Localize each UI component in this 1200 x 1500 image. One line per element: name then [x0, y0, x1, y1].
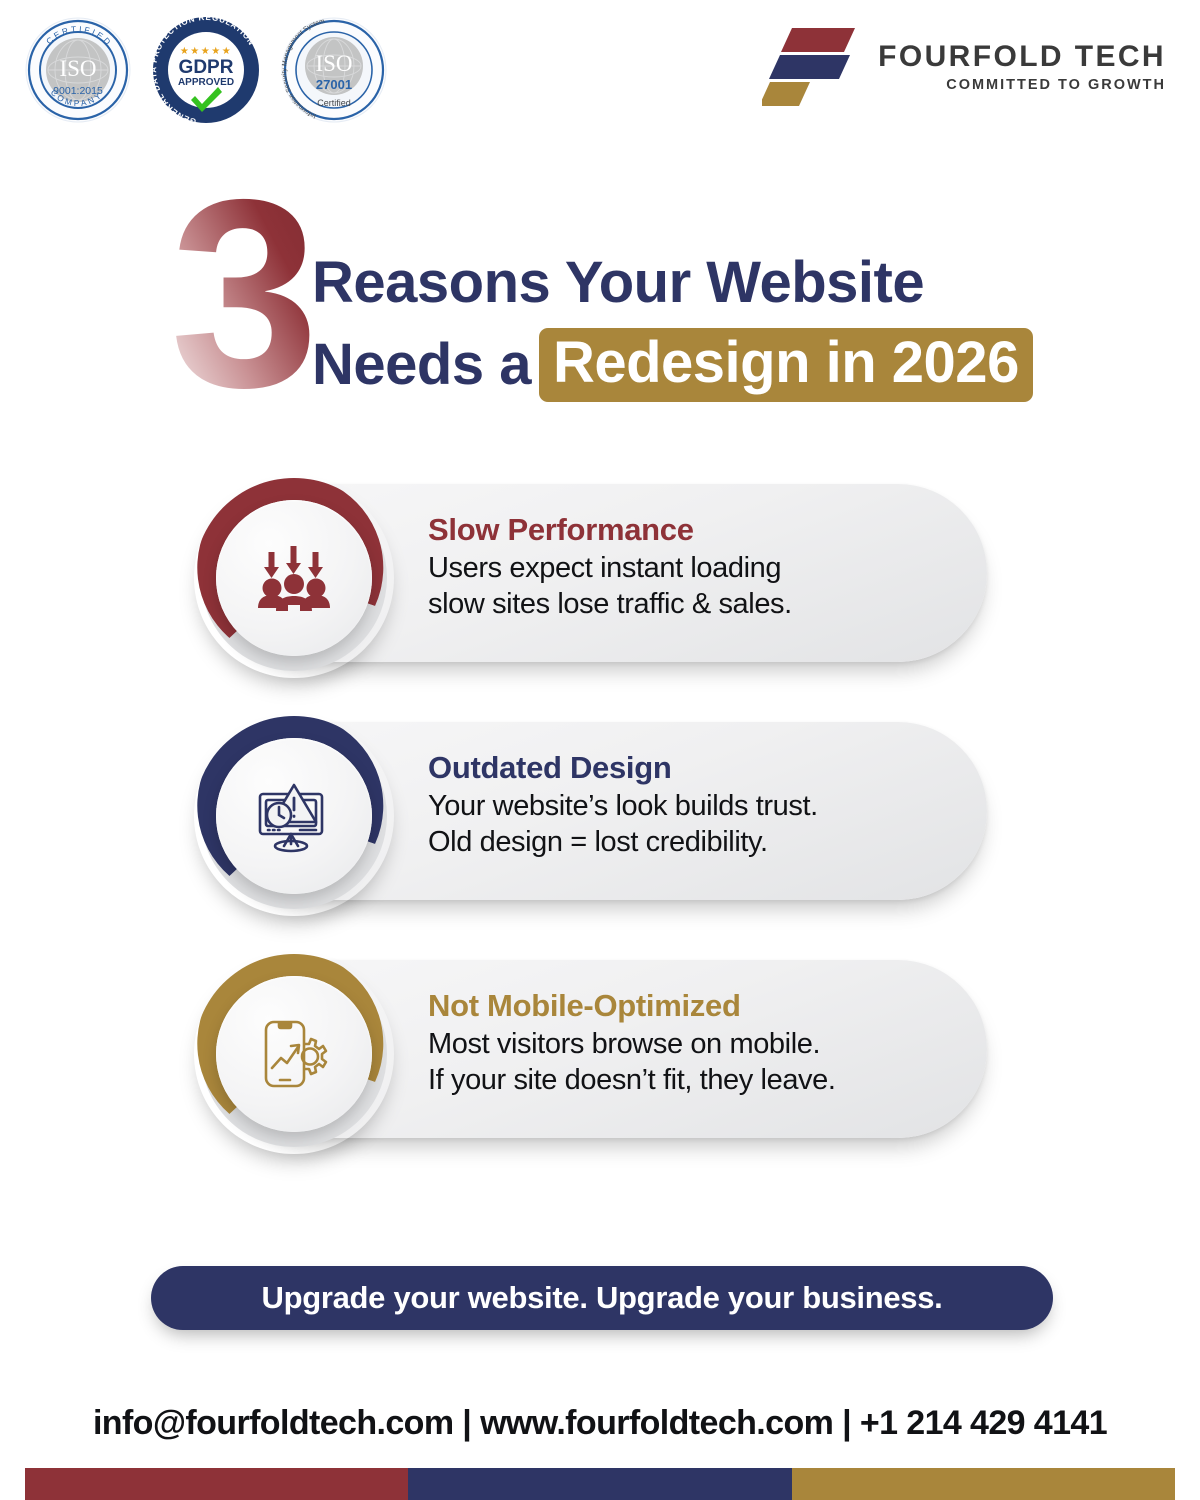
svg-text:APPROVED: APPROVED [178, 77, 234, 88]
reason-card-outdated-design[interactable]: Outdated Design Your website’s look buil… [0, 716, 1200, 916]
card-title: Slow Performance [428, 512, 988, 548]
card-icon-disc [216, 976, 372, 1132]
reason-card-not-mobile-optimized[interactable]: Not Mobile-Optimized Most visitors brows… [0, 954, 1200, 1154]
svg-text:27001: 27001 [316, 77, 352, 92]
cta-banner[interactable]: Upgrade your website. Upgrade your busin… [151, 1266, 1053, 1330]
card-title: Not Mobile-Optimized [428, 988, 988, 1024]
card-icon-ring [194, 716, 394, 916]
card-desc-line-2: Old design = lost credibility. [428, 824, 988, 861]
svg-text:ISO: ISO [59, 56, 96, 81]
iso-9001-badge: ISO 9001:2015 CERTIFIED COMPANY [22, 14, 134, 126]
footer-bar-segment-maroon [25, 1468, 408, 1500]
card-description: Your website’s look builds trust. Old de… [428, 788, 988, 861]
cta-text: Upgrade your website. Upgrade your busin… [261, 1280, 942, 1316]
headline-line1-plain: Reasons Your [312, 250, 706, 315]
card-text-block: Slow Performance Users expect instant lo… [428, 512, 988, 623]
card-desc-line-2: If your site doesn’t fit, they leave. [428, 1062, 988, 1099]
card-desc-line-1: Users expect instant loading [428, 550, 988, 587]
card-icon-ring [194, 954, 394, 1154]
svg-text:★★★★★: ★★★★★ [180, 46, 232, 57]
company-logo: FOURFOLD TECH COMMITTED TO GROWTH [762, 24, 1166, 110]
iso-27001-badge: ISO 27001 Certified Information Security… [278, 14, 390, 126]
svg-text:ISO: ISO [315, 51, 352, 76]
monitor-warning-clock-icon [254, 776, 334, 856]
footer-color-bar [25, 1468, 1175, 1500]
fourfold-logo-mark [762, 24, 858, 110]
footer-contact-line[interactable]: info@fourfoldtech.com | www.fourfoldtech… [0, 1404, 1200, 1443]
headline-line-1: Reasons Your Website [312, 254, 1072, 312]
people-down-arrows-icon [254, 538, 334, 618]
svg-text:Certified: Certified [317, 98, 351, 108]
footer-bar-segment-gold [792, 1468, 1175, 1500]
card-desc-line-1: Your website’s look builds trust. [428, 788, 988, 825]
card-desc-line-1: Most visitors browse on mobile. [428, 1026, 988, 1063]
card-text-block: Not Mobile-Optimized Most visitors brows… [428, 988, 988, 1099]
headline-text: Reasons Your Website Needs aRedesign in … [312, 254, 1072, 402]
reason-card-slow-performance[interactable]: Slow Performance Users expect instant lo… [0, 478, 1200, 678]
reason-cards-list: Slow Performance Users expect instant lo… [0, 478, 1200, 1192]
card-icon-ring [194, 478, 394, 678]
logo-tagline: COMMITTED TO GROWTH [946, 77, 1166, 93]
headline-highlight-box: Redesign in 2026 [539, 328, 1033, 402]
card-icon-disc [216, 500, 372, 656]
headline-line2-plain: Needs a [312, 336, 531, 394]
card-icon-disc [216, 738, 372, 894]
card-description: Users expect instant loading slow sites … [428, 550, 988, 623]
footer-bar-segment-navy [408, 1468, 791, 1500]
certification-badges: ISO 9001:2015 CERTIFIED COMPANY GENERAL … [22, 14, 390, 126]
svg-text:GDPR: GDPR [179, 57, 234, 78]
card-description: Most visitors browse on mobile. If your … [428, 1026, 988, 1099]
gdpr-badge: GENERAL DATA PROTECTION REGULATION ★★★★★… [150, 14, 262, 126]
headline-line1-strong: Website [706, 250, 924, 315]
svg-text:3: 3 [176, 186, 319, 402]
card-title: Outdated Design [428, 750, 988, 786]
card-desc-line-2: slow sites lose traffic & sales. [428, 586, 988, 623]
logo-company-name: FOURFOLD TECH [878, 41, 1166, 73]
headline-section: 3 Reasons Your Website Needs aRedesign i… [0, 186, 1200, 416]
card-text-block: Outdated Design Your website’s look buil… [428, 750, 988, 861]
headline-line-2: Needs aRedesign in 2026 [312, 328, 1072, 402]
mobile-gear-growth-icon [254, 1014, 334, 1094]
